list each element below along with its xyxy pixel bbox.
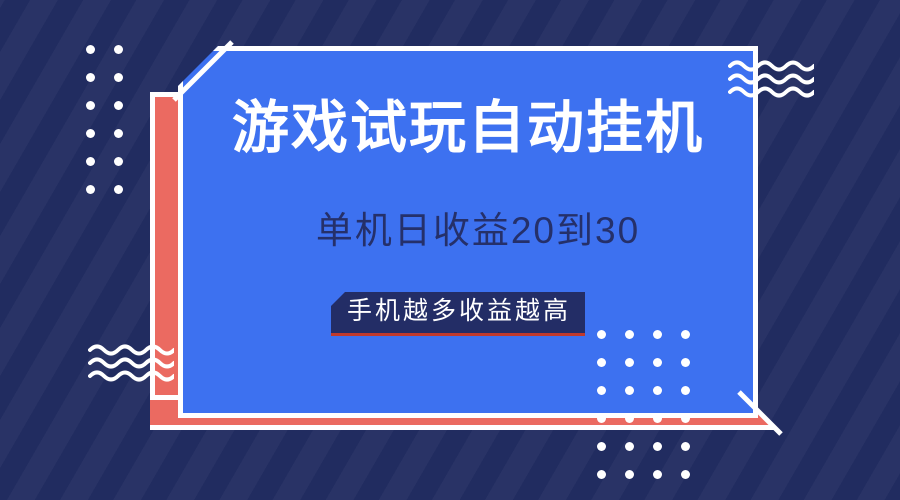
wave-lines-top-right-icon	[728, 58, 814, 100]
dot	[653, 470, 662, 479]
highlight-badge: 手机越多收益越高	[331, 292, 585, 333]
dot	[681, 442, 690, 451]
dot	[597, 470, 606, 479]
dot-grid-left-decoration	[86, 45, 142, 213]
dot	[653, 330, 662, 339]
dot	[653, 414, 662, 423]
wave-lines-bottom-left-icon	[88, 342, 174, 384]
dot	[86, 129, 95, 138]
dot	[625, 414, 634, 423]
dot	[681, 414, 690, 423]
dot	[625, 330, 634, 339]
dot	[681, 330, 690, 339]
dot	[597, 386, 606, 395]
dot	[86, 101, 95, 110]
dot	[597, 414, 606, 423]
dot	[86, 73, 95, 82]
dot	[86, 185, 95, 194]
dot	[653, 442, 662, 451]
dot	[625, 358, 634, 367]
dot	[681, 470, 690, 479]
dot	[681, 358, 690, 367]
dot	[114, 157, 123, 166]
dot	[625, 386, 634, 395]
dot	[625, 442, 634, 451]
dot	[597, 358, 606, 367]
dot	[681, 386, 690, 395]
dot	[114, 45, 123, 54]
dot	[114, 101, 123, 110]
subtitle-text: 单机日收益20到30	[178, 212, 778, 249]
dot	[114, 129, 123, 138]
page-title: 游戏试玩自动挂机	[178, 100, 758, 157]
badge-underline	[331, 333, 585, 336]
dot	[597, 330, 606, 339]
dot	[653, 386, 662, 395]
dot-grid-right-decoration	[597, 330, 709, 498]
dot	[86, 45, 95, 54]
dot	[597, 442, 606, 451]
dot	[625, 470, 634, 479]
promo-poster: 游戏试玩自动挂机 单机日收益20到30 手机越多收益越高	[0, 0, 900, 500]
dot	[86, 157, 95, 166]
dot	[114, 73, 123, 82]
badge-label: 手机越多收益越高	[331, 292, 585, 333]
dot	[653, 358, 662, 367]
dot	[114, 185, 123, 194]
